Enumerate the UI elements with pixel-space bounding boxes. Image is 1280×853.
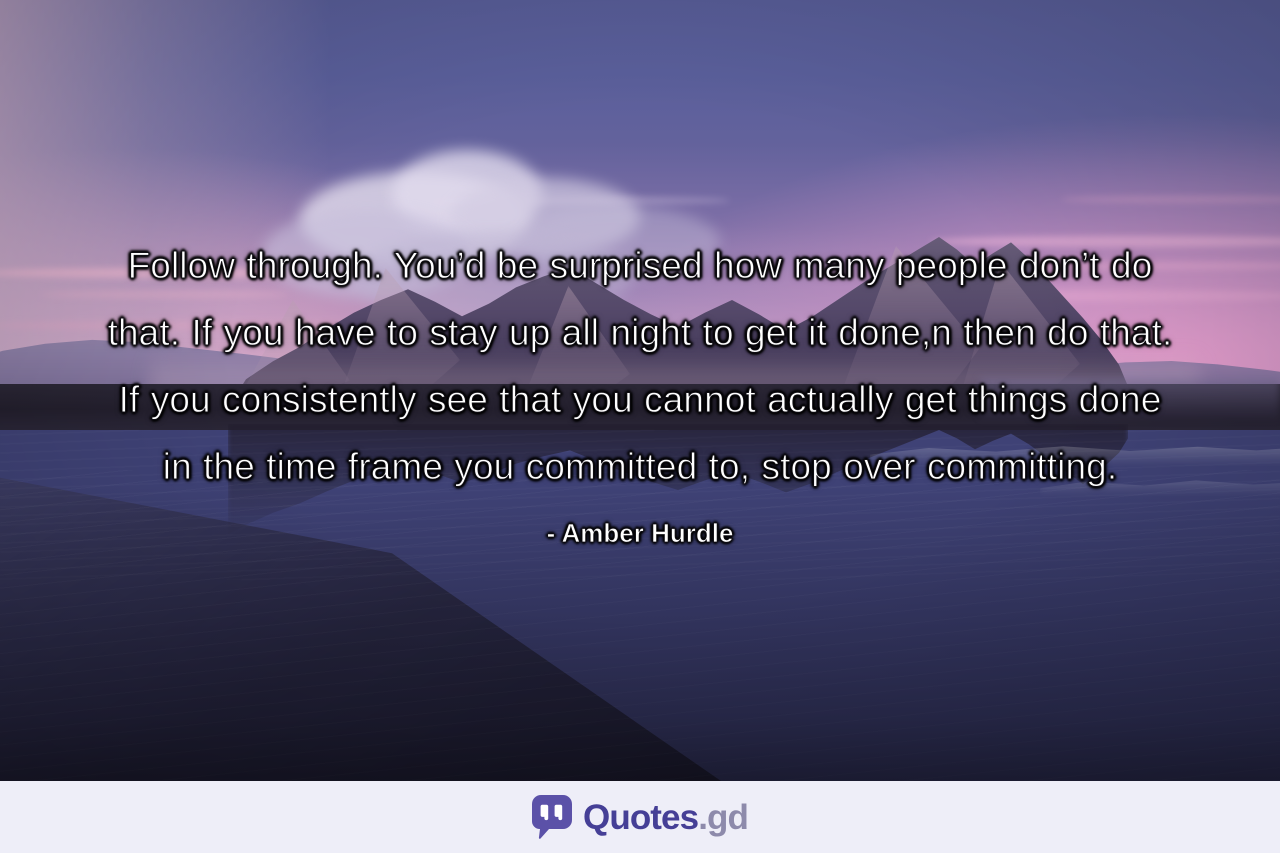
quote-author: - Amber Hurdle: [547, 516, 734, 550]
site-footer: Quotes.gd: [0, 781, 1280, 853]
site-name: Quotes: [583, 798, 698, 837]
quote-card: Follow through. You’d be surprised how m…: [0, 0, 1280, 853]
quote-bubble-icon: [532, 795, 572, 839]
quote-overlay: Follow through. You’d be surprised how m…: [0, 0, 1280, 781]
site-logo-link[interactable]: Quotes.gd: [532, 795, 748, 839]
site-logo-text: Quotes.gd: [583, 800, 748, 835]
quote-body: Follow through. You’d be surprised how m…: [105, 232, 1175, 500]
site-tld: .gd: [698, 798, 748, 837]
